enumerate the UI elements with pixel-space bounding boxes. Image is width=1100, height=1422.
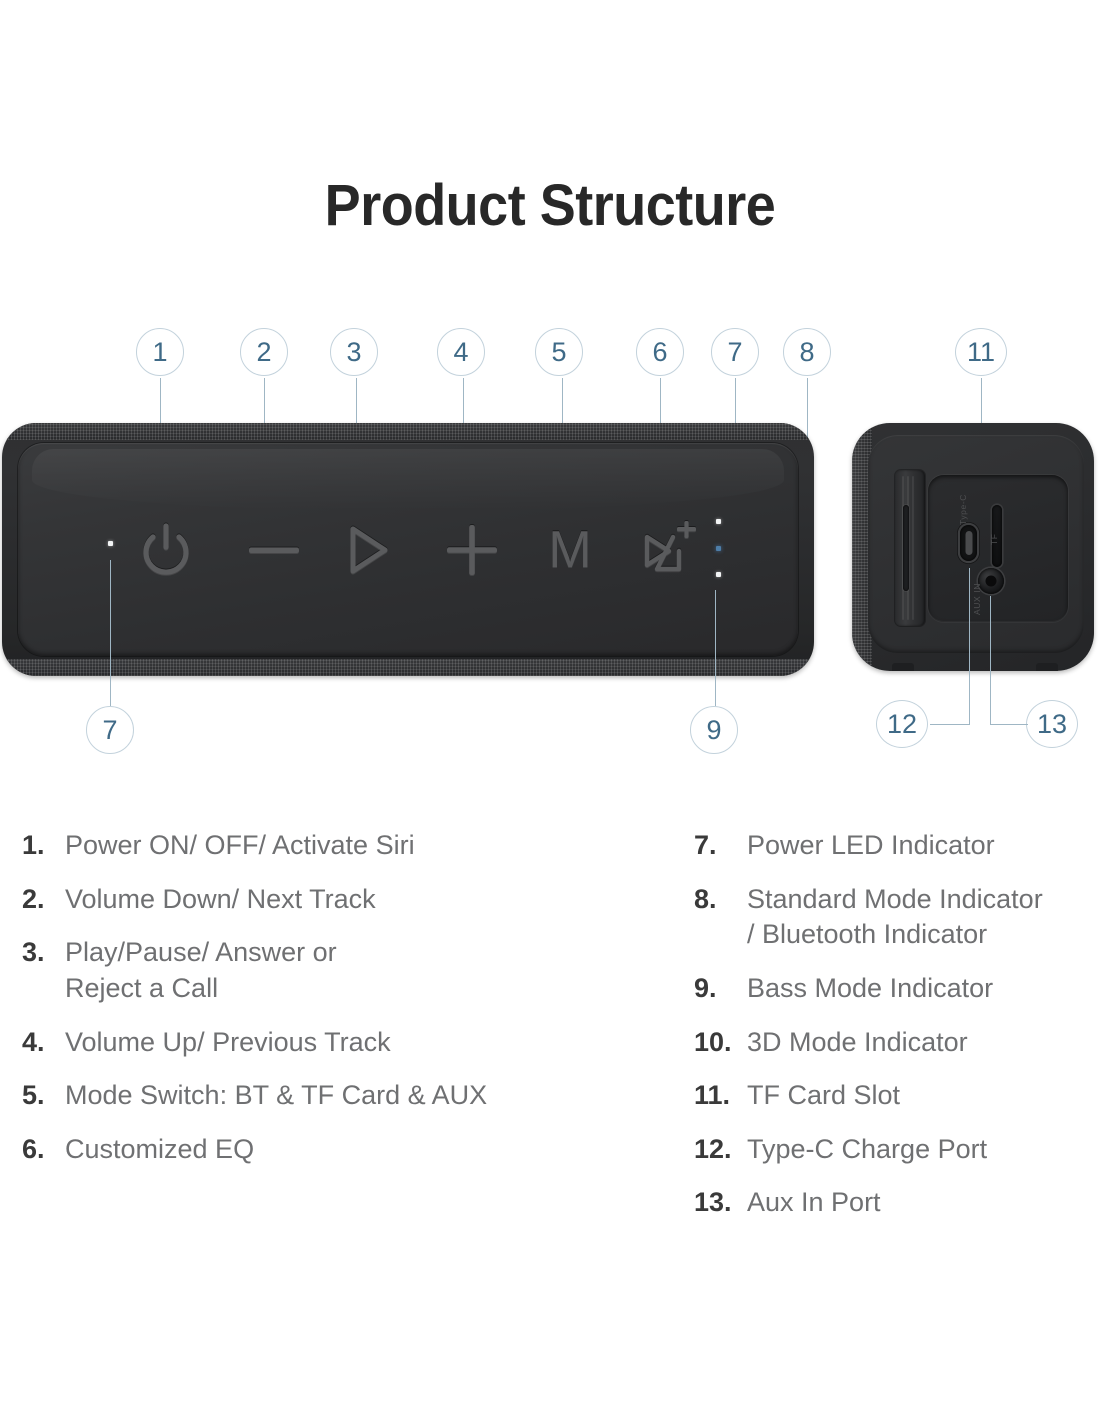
- leader-line-13-vert: [990, 596, 991, 725]
- legend-number: 5.: [22, 1078, 56, 1114]
- custom-eq-button[interactable]: [630, 505, 710, 595]
- usb-type-c-port[interactable]: [960, 525, 977, 561]
- legend-number: 6.: [22, 1132, 56, 1168]
- speaker-foot-right: [1036, 663, 1058, 671]
- legend-number: 12.: [694, 1132, 738, 1168]
- callout-4[interactable]: 4: [437, 328, 485, 376]
- legend-item: 3. Play/Pause/ Answer or Reject a Call: [22, 935, 622, 1006]
- legend-number: 4.: [22, 1025, 56, 1061]
- legend-label: Volume Up/ Previous Track: [65, 1025, 391, 1061]
- callout-6[interactable]: 6: [636, 328, 684, 376]
- legend-label: Bass Mode Indicator: [747, 971, 993, 1007]
- plus-icon: [445, 523, 499, 577]
- legend-number: 11.: [694, 1078, 738, 1114]
- legend-column-left: 1. Power ON/ OFF/ Activate Siri 2. Volum…: [22, 828, 622, 1185]
- legend-number: 1.: [22, 828, 56, 864]
- legend-item: 4. Volume Up/ Previous Track: [22, 1025, 622, 1061]
- legend-label: Power LED Indicator: [747, 828, 995, 864]
- legend-item: 9. Bass Mode Indicator: [694, 971, 1094, 1007]
- legend-item: 8. Standard Mode Indicator / Bluetooth I…: [694, 882, 1094, 953]
- legend-label: Aux In Port: [747, 1185, 881, 1221]
- legend-column-right: 7. Power LED Indicator 8. Standard Mode …: [694, 828, 1094, 1239]
- tf-slot-label: TF: [989, 533, 999, 545]
- callout-9[interactable]: 9: [690, 706, 738, 754]
- callout-7-top[interactable]: 7: [711, 328, 759, 376]
- leader-line-12-vert: [969, 568, 970, 725]
- mode-switch-button[interactable]: M: [538, 505, 602, 595]
- page-title: Product Structure: [39, 172, 1062, 239]
- callout-12[interactable]: 12: [876, 700, 928, 748]
- leader-line-7-bottom: [110, 560, 111, 706]
- speaker-foot-left: [892, 663, 914, 671]
- custom-eq-icon: [639, 521, 701, 579]
- callout-7-bottom[interactable]: 7: [86, 706, 134, 754]
- legend-label: Power ON/ OFF/ Activate Siri: [65, 828, 415, 864]
- port-cover-flap[interactable]: [895, 470, 925, 626]
- legend-number: 10.: [694, 1025, 738, 1061]
- volume-down-button[interactable]: [238, 505, 310, 595]
- power-led-indicator: [108, 541, 113, 546]
- callout-1[interactable]: 1: [136, 328, 184, 376]
- product-structure-infographic: Product Structure 1 2 3 4 5 6 7 8 11: [0, 0, 1100, 1422]
- leader-line-13-horz: [990, 724, 1028, 725]
- legend-item: 7. Power LED Indicator: [694, 828, 1094, 864]
- legend-label: Mode Switch: BT & TF Card & AUX: [65, 1078, 487, 1114]
- legend-label: 3D Mode Indicator: [747, 1025, 968, 1061]
- legend-item: 1. Power ON/ OFF/ Activate Siri: [22, 828, 622, 864]
- mode-m-icon: M: [548, 524, 591, 576]
- callout-3[interactable]: 3: [330, 328, 378, 376]
- leader-line-9: [715, 590, 716, 706]
- callout-11[interactable]: 11: [955, 328, 1007, 376]
- legend-item: 10. 3D Mode Indicator: [694, 1025, 1094, 1061]
- aux-in-label: AUX IN: [972, 583, 982, 615]
- flap-crease-3: [912, 476, 914, 620]
- play-icon: [344, 524, 392, 576]
- aux-jack-hole: [986, 576, 997, 587]
- legend-number: 13.: [694, 1185, 738, 1221]
- flap-slot: [903, 505, 909, 591]
- legend-number: 8.: [694, 882, 738, 918]
- power-icon: [140, 522, 192, 578]
- legend-number: 3.: [22, 935, 56, 971]
- legend-label-line1: Standard Mode Indicator: [747, 884, 1043, 914]
- speaker-mesh-bottom: [2, 659, 814, 676]
- legend-label-line2: / Bluetooth Indicator: [747, 917, 1043, 953]
- legend-label: Type-C Charge Port: [747, 1132, 987, 1168]
- legend-number: 9.: [694, 971, 738, 1007]
- legend-label: Volume Down/ Next Track: [65, 882, 376, 918]
- legend-item: 11. TF Card Slot: [694, 1078, 1094, 1114]
- play-pause-button[interactable]: [333, 505, 403, 595]
- legend-item: 13. Aux In Port: [694, 1185, 1094, 1221]
- bluetooth-led-indicator: [716, 546, 721, 551]
- callout-8[interactable]: 8: [783, 328, 831, 376]
- legend-number: 7.: [694, 828, 738, 864]
- legend-label: TF Card Slot: [747, 1078, 900, 1114]
- legend-item: 12. Type-C Charge Port: [694, 1132, 1094, 1168]
- callout-13[interactable]: 13: [1026, 700, 1078, 748]
- legend-label-line2: Reject a Call: [65, 971, 337, 1007]
- usb-c-tongue: [965, 531, 972, 555]
- callout-5[interactable]: 5: [535, 328, 583, 376]
- legend-item: 2. Volume Down/ Next Track: [22, 882, 622, 918]
- minus-icon: [247, 540, 301, 560]
- bass-led-indicator: [716, 572, 721, 577]
- legend-label-line1: Play/Pause/ Answer or: [65, 937, 337, 967]
- legend-label: Play/Pause/ Answer or Reject a Call: [65, 935, 337, 1006]
- standard-led-indicator-top: [716, 519, 721, 524]
- legend-item: 6. Customized EQ: [22, 1132, 622, 1168]
- speaker-mesh-top: [2, 423, 814, 440]
- legend-item: 5. Mode Switch: BT & TF Card & AUX: [22, 1078, 622, 1114]
- legend-number: 2.: [22, 882, 56, 918]
- power-button[interactable]: [126, 505, 206, 595]
- callout-2[interactable]: 2: [240, 328, 288, 376]
- legend-label: Customized EQ: [65, 1132, 254, 1168]
- volume-up-button[interactable]: [436, 505, 508, 595]
- leader-line-12-horz: [930, 724, 970, 725]
- legend-label: Standard Mode Indicator / Bluetooth Indi…: [747, 882, 1043, 953]
- typec-port-label: Type-C: [958, 494, 968, 525]
